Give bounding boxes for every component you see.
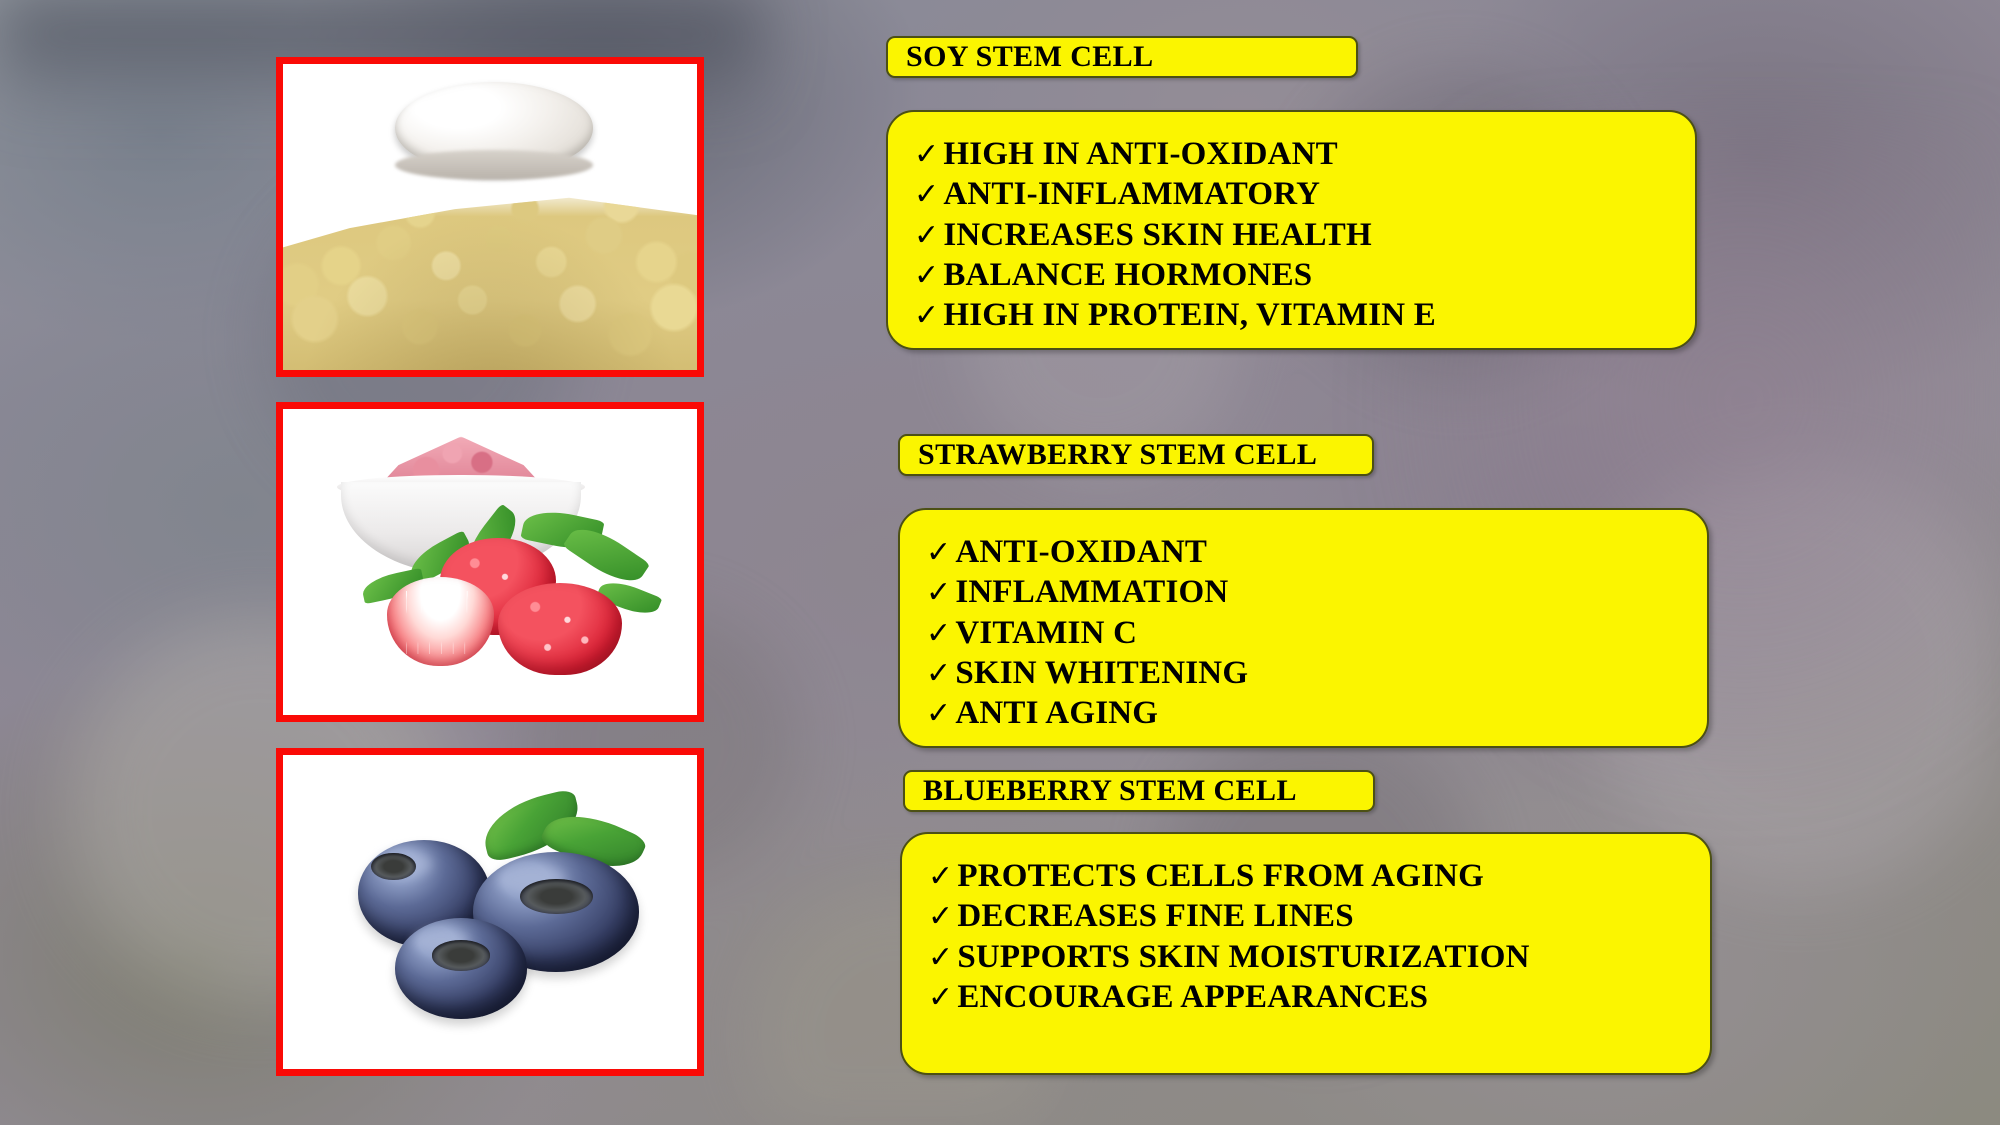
blueberry-crown (371, 853, 416, 881)
check-icon: ✓ (928, 902, 953, 932)
list-item: ✓ BALANCE HORMONES (914, 255, 1669, 295)
strawberry-benefits-card: ✓ ANTI-OXIDANT ✓ INFLAMMATION ✓ VITAMIN … (898, 508, 1709, 748)
soy-benefits-card: ✓ HIGH IN ANTI-OXIDANT ✓ ANTI-INFLAMMATO… (886, 110, 1697, 350)
benefit-text: HIGH IN ANTI-OXIDANT (943, 134, 1338, 174)
check-icon: ✓ (914, 140, 939, 170)
soy-dish-rim (395, 150, 594, 181)
blueberry-title-label: BLUEBERRY STEM CELL (905, 774, 1297, 808)
check-icon: ✓ (928, 862, 953, 892)
benefit-text: INFLAMMATION (955, 572, 1228, 612)
slide-canvas: SOY STEM CELL ✓ HIGH IN ANTI-OXIDANT ✓ A… (0, 0, 2000, 1125)
check-icon: ✓ (914, 301, 939, 331)
list-item: ✓ ENCOURAGE APPEARANCES (928, 977, 1684, 1017)
blueberry-title-pill: BLUEBERRY STEM CELL (903, 770, 1375, 812)
list-item: ✓ HIGH IN ANTI-OXIDANT (914, 134, 1669, 174)
benefit-text: ANTI-OXIDANT (955, 532, 1207, 572)
blueberry-benefits-card: ✓ PROTECTS CELLS FROM AGING ✓ DECREASES … (900, 832, 1712, 1075)
list-item: ✓ ANTI-OXIDANT (926, 532, 1681, 572)
strawberry-title-label: STRAWBERRY STEM CELL (900, 438, 1317, 472)
soy-photo-frame (276, 57, 704, 377)
benefit-text: INCREASES SKIN HEALTH (943, 215, 1371, 255)
benefit-text: ANTI-INFLAMMATORY (943, 174, 1320, 214)
list-item: ✓ SKIN WHITENING (926, 653, 1681, 693)
check-icon: ✓ (926, 538, 951, 568)
list-item: ✓ INCREASES SKIN HEALTH (914, 215, 1669, 255)
check-icon: ✓ (926, 578, 951, 608)
benefit-text: SUPPORTS SKIN MOISTURIZATION (957, 937, 1529, 977)
check-icon: ✓ (914, 221, 939, 251)
check-icon: ✓ (914, 180, 939, 210)
list-item: ✓ HIGH IN PROTEIN, VITAMIN E (914, 295, 1669, 335)
check-icon: ✓ (928, 983, 953, 1013)
check-icon: ✓ (926, 659, 951, 689)
strawberry-photo-frame (276, 402, 704, 722)
soy-photo (283, 64, 697, 370)
soy-title-pill: SOY STEM CELL (886, 36, 1358, 78)
blueberry-photo (283, 755, 697, 1069)
benefit-text: ANTI AGING (955, 693, 1158, 733)
soy-title-label: SOY STEM CELL (888, 40, 1154, 74)
benefit-text: ENCOURAGE APPEARANCES (957, 977, 1428, 1017)
soybean-pile (283, 186, 697, 370)
check-icon: ✓ (914, 261, 939, 291)
list-item: ✓ VITAMIN C (926, 613, 1681, 653)
benefit-text: PROTECTS CELLS FROM AGING (957, 856, 1484, 896)
list-item: ✓ INFLAMMATION (926, 572, 1681, 612)
check-icon: ✓ (926, 699, 951, 729)
blueberry-crown (520, 879, 593, 915)
blueberry-icon (395, 918, 527, 1018)
strawberry-title-pill: STRAWBERRY STEM CELL (898, 434, 1374, 476)
list-item: ✓ ANTI AGING (926, 693, 1681, 733)
benefit-text: DECREASES FINE LINES (957, 896, 1353, 936)
strawberry-half-icon (387, 577, 495, 666)
strawberry-whole-icon (498, 583, 622, 675)
check-icon: ✓ (926, 619, 951, 649)
benefit-text: SKIN WHITENING (955, 653, 1248, 693)
benefit-text: BALANCE HORMONES (943, 255, 1312, 295)
list-item: ✓ SUPPORTS SKIN MOISTURIZATION (928, 937, 1684, 977)
benefit-text: VITAMIN C (955, 613, 1137, 653)
list-item: ✓ ANTI-INFLAMMATORY (914, 174, 1669, 214)
list-item: ✓ PROTECTS CELLS FROM AGING (928, 856, 1684, 896)
check-icon: ✓ (928, 943, 953, 973)
benefit-text: HIGH IN PROTEIN, VITAMIN E (943, 295, 1436, 335)
blueberry-crown (432, 940, 490, 970)
strawberry-photo (283, 409, 697, 715)
blueberry-photo-frame (276, 748, 704, 1076)
list-item: ✓ DECREASES FINE LINES (928, 896, 1684, 936)
